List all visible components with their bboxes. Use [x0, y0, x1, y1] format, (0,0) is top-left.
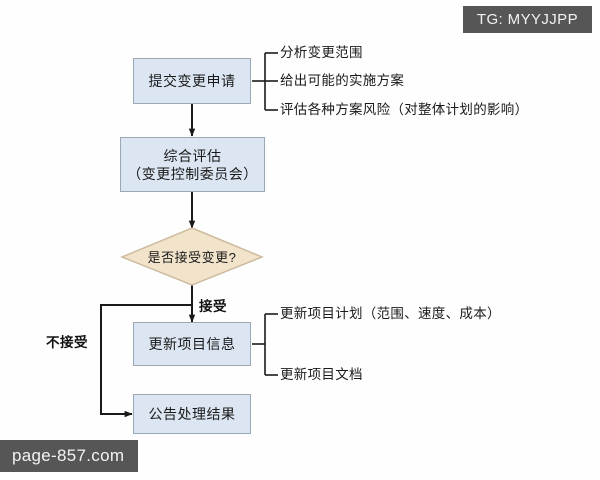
annotation-update-1: 更新项目计划（范围、速度、成本）	[280, 306, 501, 322]
node-update-label: 更新项目信息	[149, 335, 236, 353]
node-submit-label: 提交变更申请	[149, 72, 236, 90]
annotation-submit-1: 分析变更范围	[280, 45, 363, 61]
watermark-bottom-left: page-857.com	[0, 440, 138, 472]
node-announce-label: 公告处理结果	[149, 405, 236, 423]
annotation-update-2: 更新项目文档	[280, 367, 363, 383]
flowchart-canvas: 提交变更申请 综合评估 （变更控制委员会） 是否接受变更? 更新项目信息 公告处…	[0, 0, 600, 480]
edge-label-accept: 接受	[199, 295, 227, 315]
node-evaluate-label-line2: （变更控制委员会）	[127, 165, 258, 183]
node-decision-label: 是否接受变更?	[122, 228, 262, 285]
connector-layer	[0, 0, 600, 480]
node-comprehensive-evaluation[interactable]: 综合评估 （变更控制委员会）	[120, 137, 265, 192]
node-announce-result[interactable]: 公告处理结果	[133, 394, 251, 434]
node-update-project-info[interactable]: 更新项目信息	[133, 322, 251, 366]
node-accept-change-decision[interactable]: 是否接受变更?	[122, 228, 262, 285]
annotation-submit-2: 给出可能的实施方案	[280, 73, 404, 89]
node-submit-change-request[interactable]: 提交变更申请	[133, 58, 251, 104]
node-evaluate-label-line1: 综合评估	[164, 147, 222, 165]
watermark-top-right: TG: MYYJJPP	[463, 6, 592, 33]
annotation-submit-3: 评估各种方案风险（对整体计划的影响）	[280, 102, 528, 118]
edge-label-reject: 不接受	[46, 331, 88, 351]
